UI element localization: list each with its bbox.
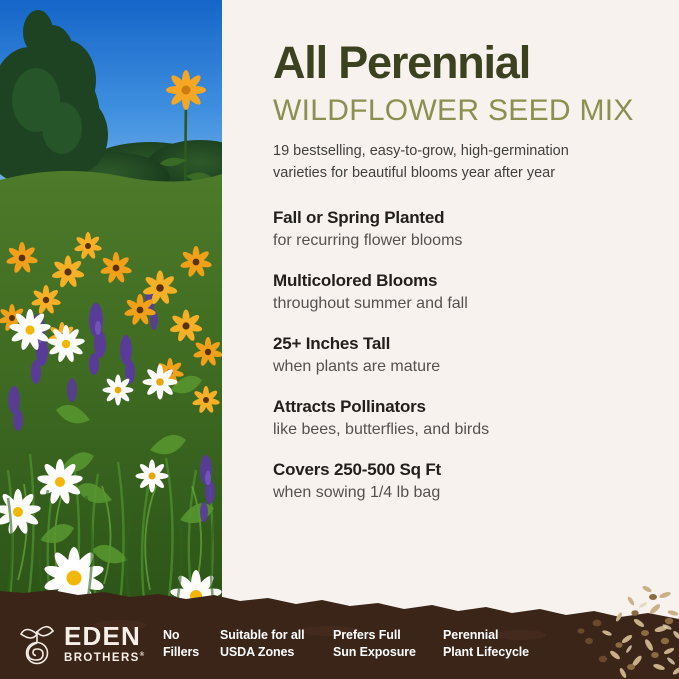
feature-item: Multicolored Blooms throughout summer an… bbox=[273, 270, 679, 315]
footer-item-line2: Sun Exposure bbox=[333, 644, 416, 661]
trademark-symbol: ® bbox=[140, 652, 146, 658]
product-subtitle: WILDFLOWER SEED MIX bbox=[273, 94, 679, 127]
footer-item-line2: Fillers bbox=[163, 644, 199, 661]
feature-subtext: when sowing 1/4 lb bag bbox=[273, 483, 679, 504]
product-details: All Perennial WILDFLOWER SEED MIX 19 bes… bbox=[273, 0, 679, 600]
feature-heading: Fall or Spring Planted bbox=[273, 207, 679, 228]
product-infographic: All Perennial WILDFLOWER SEED MIX 19 bes… bbox=[0, 0, 679, 679]
feature-item: Attracts Pollinators like bees, butterfl… bbox=[273, 396, 679, 441]
brand-subname: BROTHERS® bbox=[64, 652, 146, 664]
feature-list: Fall or Spring Planted for recurring flo… bbox=[273, 207, 679, 504]
footer-item-no-fillers: No Fillers bbox=[163, 627, 199, 661]
feature-heading: Multicolored Blooms bbox=[273, 270, 679, 291]
wildflower-meadow-photo bbox=[0, 0, 222, 608]
feature-subtext: throughout summer and fall bbox=[273, 294, 679, 315]
feature-heading: Attracts Pollinators bbox=[273, 396, 679, 417]
soil-banner: EDEN BROTHERS® No Fillers Suitable for a… bbox=[0, 579, 679, 679]
brand-name: EDEN bbox=[64, 623, 146, 649]
footer-item-sun-exposure: Prefers Full Sun Exposure bbox=[333, 627, 416, 661]
brand-logo[interactable]: EDEN BROTHERS® bbox=[16, 621, 146, 667]
feature-heading: 25+ Inches Tall bbox=[273, 333, 679, 354]
sprout-icon bbox=[16, 621, 58, 667]
feature-subtext: for recurring flower blooms bbox=[273, 231, 679, 252]
footer-item-usda-zones: Suitable for all USDA Zones bbox=[220, 627, 305, 661]
brand-wordmark: EDEN BROTHERS® bbox=[64, 623, 146, 664]
footer-item-line2: USDA Zones bbox=[220, 644, 305, 661]
meadow-illustration bbox=[0, 0, 222, 608]
feature-subtext: like bees, butterflies, and birds bbox=[273, 420, 679, 441]
page-title: All Perennial bbox=[273, 40, 679, 85]
footer-item-plant-lifecycle: Perennial Plant Lifecycle bbox=[443, 627, 529, 661]
feature-item: Covers 250-500 Sq Ft when sowing 1/4 lb … bbox=[273, 459, 679, 504]
footer-item-line1: Perennial bbox=[443, 628, 498, 642]
footer-item-line2: Plant Lifecycle bbox=[443, 644, 529, 661]
feature-item: 25+ Inches Tall when plants are mature bbox=[273, 333, 679, 378]
feature-subtext: when plants are mature bbox=[273, 357, 679, 378]
footer-item-line1: Prefers Full bbox=[333, 628, 401, 642]
feature-item: Fall or Spring Planted for recurring flo… bbox=[273, 207, 679, 252]
footer-bar: EDEN BROTHERS® No Fillers Suitable for a… bbox=[0, 607, 679, 679]
feature-heading: Covers 250-500 Sq Ft bbox=[273, 459, 679, 480]
footer-item-line1: Suitable for all bbox=[220, 628, 305, 642]
product-intro: 19 bestselling, easy-to-grow, high-germi… bbox=[273, 141, 623, 185]
footer-item-line1: No bbox=[163, 628, 179, 642]
